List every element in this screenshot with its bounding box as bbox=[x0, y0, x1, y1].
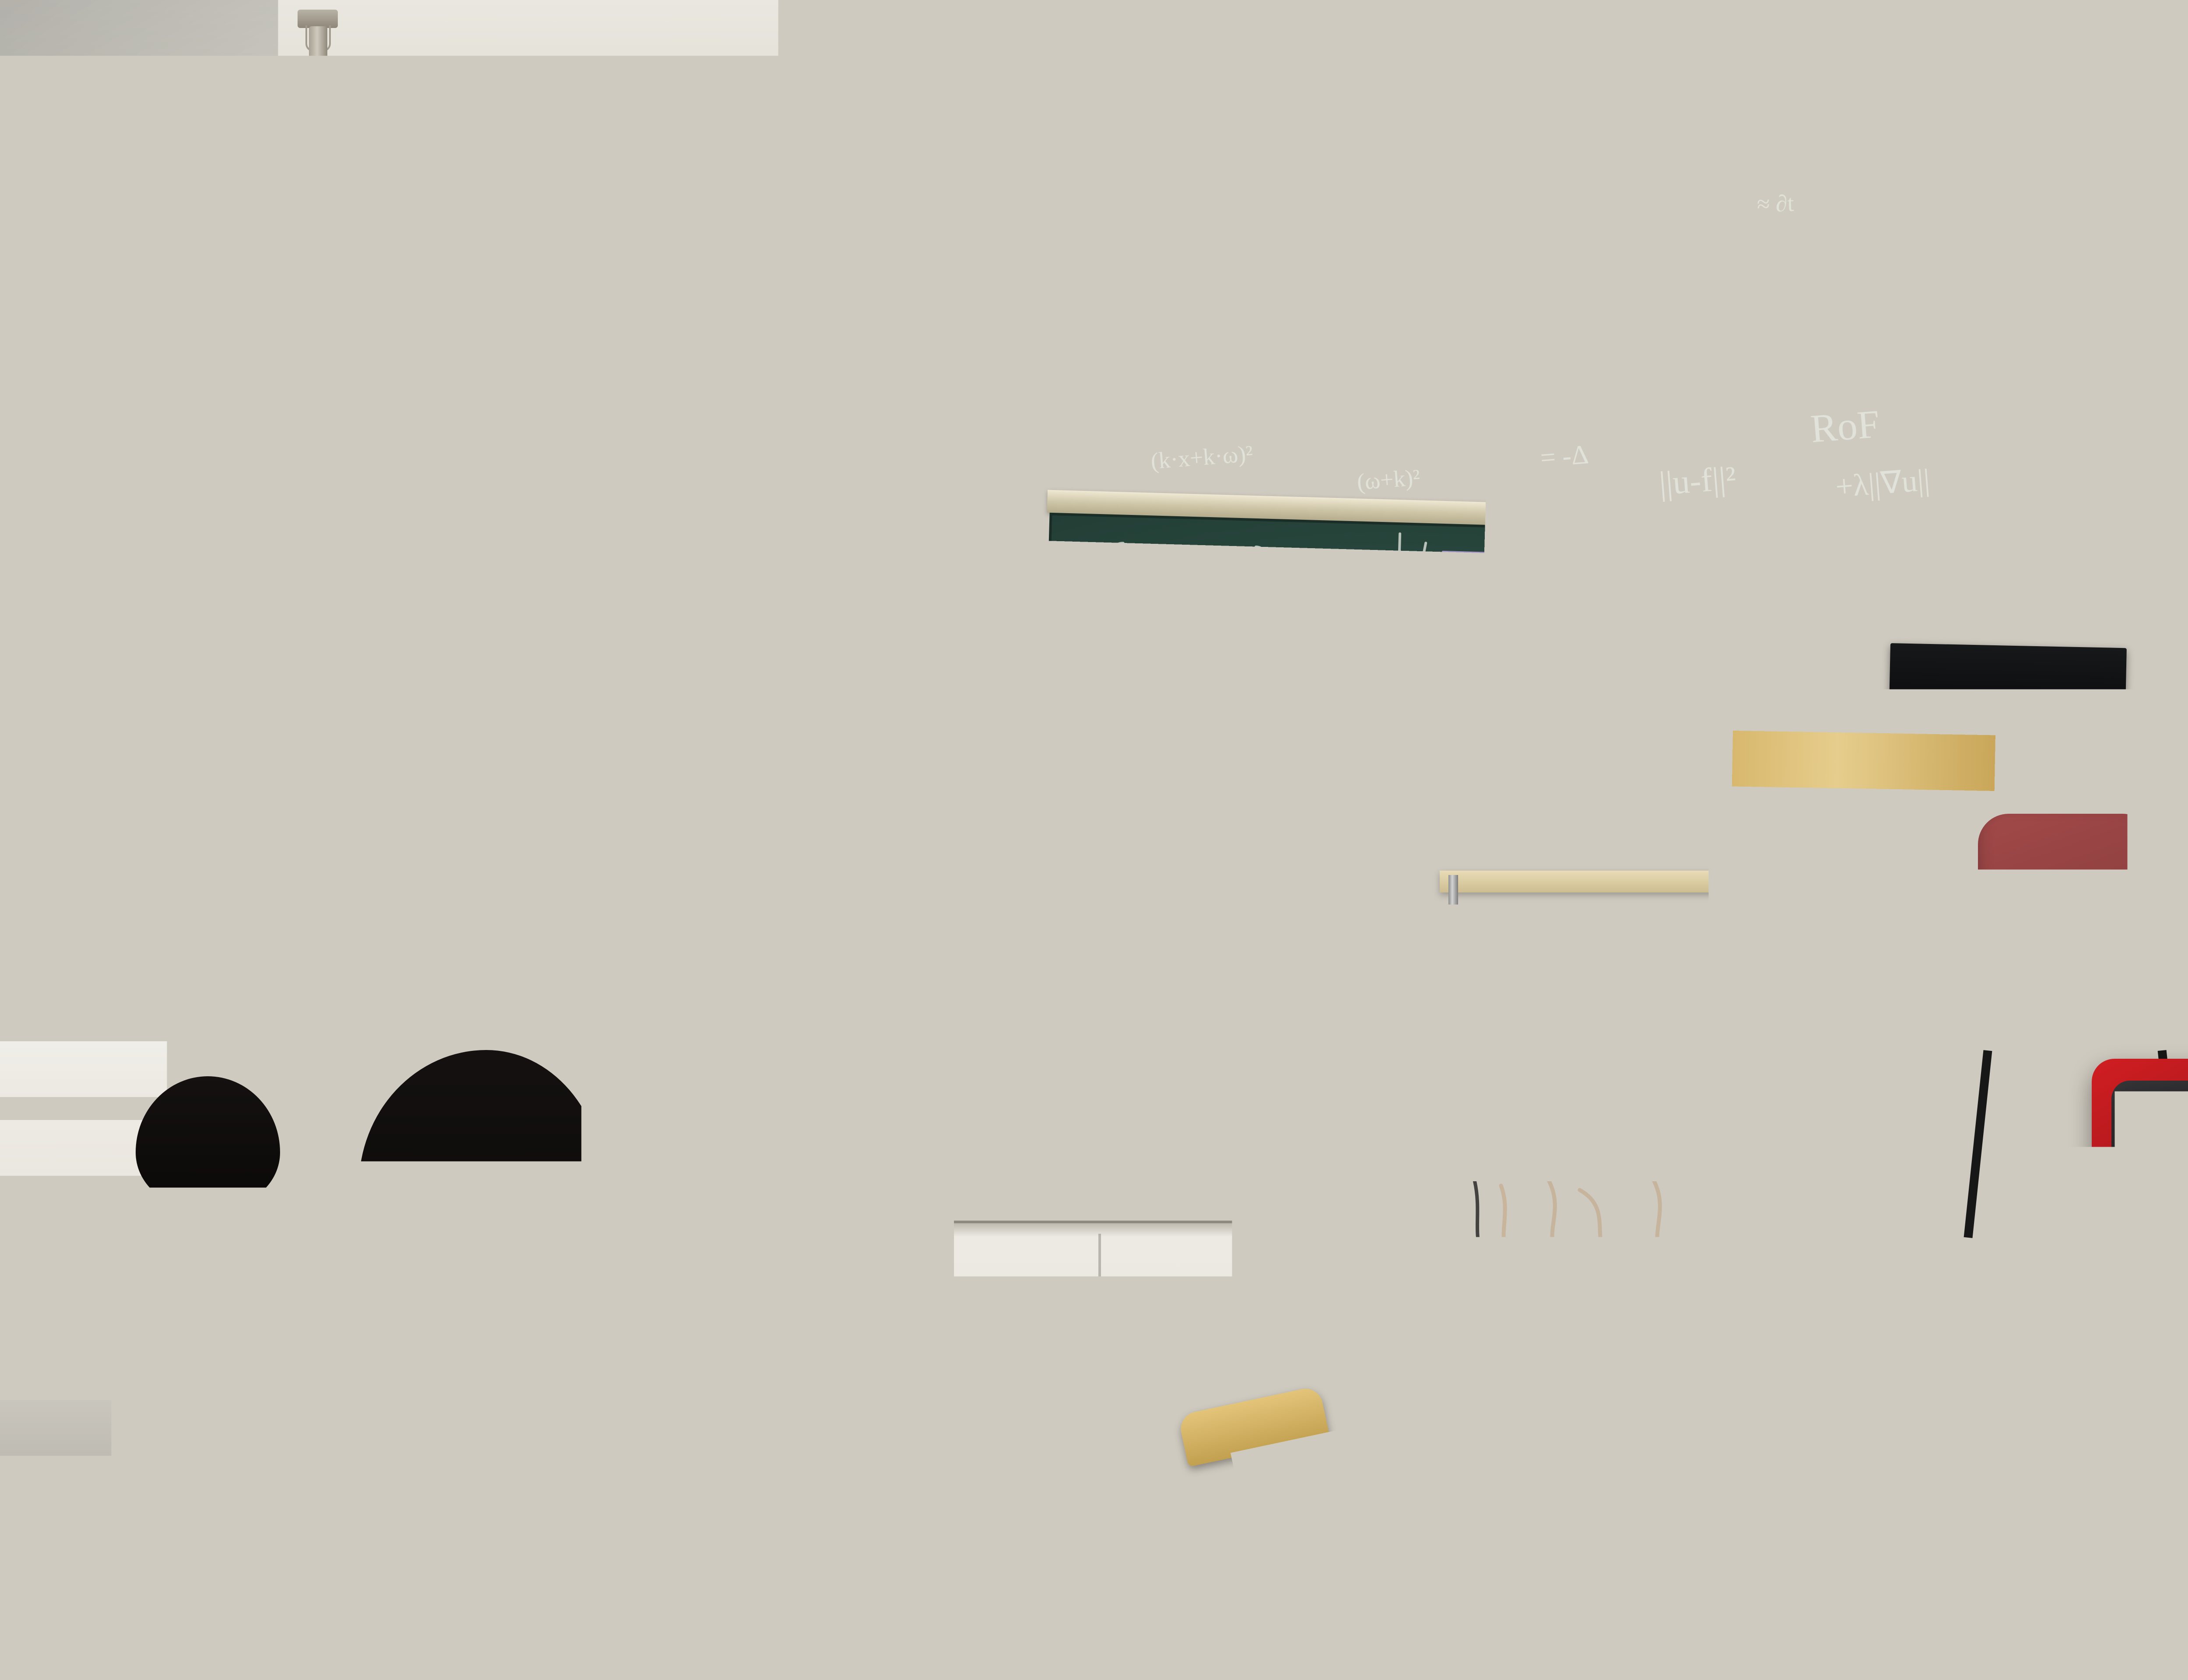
svg-text:y: y bbox=[1137, 641, 1153, 675]
svg-text:y: y bbox=[1203, 555, 1219, 589]
fire-sprinkler-body bbox=[309, 26, 327, 60]
audience-hair-tie bbox=[501, 1212, 530, 1227]
receiver-knob-b[interactable] bbox=[1597, 1136, 1607, 1145]
svg-text:(k·x+k·ω)²: (k·x+k·ω)² bbox=[1150, 440, 1254, 474]
blackboard-panel-upper: ≈ ∂t RoF ||u-f||² +λ||∇u|| = -Δ (k·x+k·ω… bbox=[1050, 103, 2005, 514]
figure-label-source: Source bbox=[109, 531, 224, 582]
svg-text:k: k bbox=[1263, 721, 1278, 751]
eyeglasses-bridge bbox=[1799, 599, 1814, 602]
folding-writing-desk[interactable] bbox=[1420, 1257, 1511, 1311]
audience-person-red-coat bbox=[0, 1120, 101, 1391]
presenter bbox=[1659, 516, 1939, 1601]
figure-label-receiver: Receiver bbox=[438, 533, 584, 585]
audience-person-arm bbox=[1882, 1509, 1995, 1680]
svg-text:(ω+k)²: (ω+k)² bbox=[1356, 464, 1421, 495]
svg-text:k: k bbox=[1362, 629, 1376, 658]
projection-screen-surface: 地震学中的问题 正问题：地震波是如何传播的？ 反问题：如何利用接收的地震波？ S… bbox=[0, 143, 1070, 983]
slide-title: 地震学中的问题 bbox=[25, 194, 1068, 300]
side-chair-back bbox=[1978, 814, 2153, 1015]
svg-text:+λ||∇u||: +λ||∇u|| bbox=[1834, 462, 1931, 504]
side-chair-seat bbox=[1960, 1006, 2179, 1067]
svg-text:k: k bbox=[1471, 755, 1486, 785]
audience-paper-sheet bbox=[0, 1575, 201, 1680]
audience-person-navy-sleeve bbox=[866, 1496, 1050, 1680]
blackboard-upper-chalk-drawings: ≈ ∂t RoF ||u-f||² +λ||∇u|| = -Δ (k·x+k·ω… bbox=[1053, 106, 2002, 512]
wavefield-figure bbox=[18, 594, 847, 913]
svg-text:k: k bbox=[1296, 722, 1310, 752]
svg-text:k: k bbox=[1439, 754, 1453, 784]
presenter-ear bbox=[1850, 590, 1871, 621]
svg-text:k = ∇: k = ∇ bbox=[1462, 685, 1526, 717]
svg-text:k: k bbox=[1532, 584, 1548, 615]
svg-text:= -Δ: = -Δ bbox=[1539, 440, 1590, 473]
svg-text:T: T bbox=[1556, 581, 1567, 601]
svg-text:k: k bbox=[1567, 584, 1582, 616]
svg-text:RoF: RoF bbox=[1809, 402, 1881, 451]
svg-text:T: T bbox=[1461, 751, 1472, 770]
eyeglasses-lens-right bbox=[1813, 588, 1853, 616]
eyeglasses-lens-left bbox=[1758, 590, 1799, 617]
receiver-knob-a[interactable] bbox=[1523, 1137, 1534, 1148]
seat-number-plate: 06 bbox=[933, 1207, 984, 1235]
lecture-hall-photo: ≈ ∂t RoF ||u-f||² +λ||∇u|| = -Δ (k·x+k·ω… bbox=[0, 0, 2188, 1680]
seat-arm-base bbox=[1221, 1339, 1295, 1680]
svg-text:δI+δk: δI+δk bbox=[1268, 623, 1332, 654]
curtain-header bbox=[2030, 0, 2188, 52]
svg-text:z: z bbox=[1202, 643, 1217, 677]
side-chair-leg-back bbox=[2135, 919, 2144, 1063]
svg-text:||u-f||²: ||u-f||² bbox=[1658, 459, 1737, 502]
wavefield-plot bbox=[18, 594, 847, 913]
projection-screen: 地震学中的问题 正问题：地震波是如何传播的？ 反问题：如何利用接收的地震波？ S… bbox=[0, 109, 1119, 1053]
presenter-hand-holding-remote bbox=[1650, 1011, 1722, 1067]
svg-text:x: x bbox=[1137, 555, 1154, 589]
bullet-dot-icon bbox=[85, 385, 97, 397]
seat-number-plate: 06 bbox=[819, 1085, 870, 1112]
svg-text:≈ ∂t: ≈ ∂t bbox=[1757, 190, 1794, 217]
presentation-slide: 地震学中的问题 正问题：地震波是如何传播的？ 反问题：如何利用接收的地震波？ S… bbox=[0, 143, 1070, 983]
seat-cushion bbox=[2171, 1285, 2188, 1667]
receiver-led bbox=[1645, 1137, 1653, 1145]
slide-bullet-list: 正问题：地震波是如何传播的？ 反问题：如何利用接收的地震波？ bbox=[82, 364, 1018, 526]
bullet-dot-icon bbox=[83, 448, 95, 460]
audience-ponytail bbox=[473, 1216, 565, 1361]
auditorium-seat[interactable]: 08 bbox=[2144, 1256, 2188, 1680]
svg-text:T: T bbox=[1286, 718, 1297, 738]
